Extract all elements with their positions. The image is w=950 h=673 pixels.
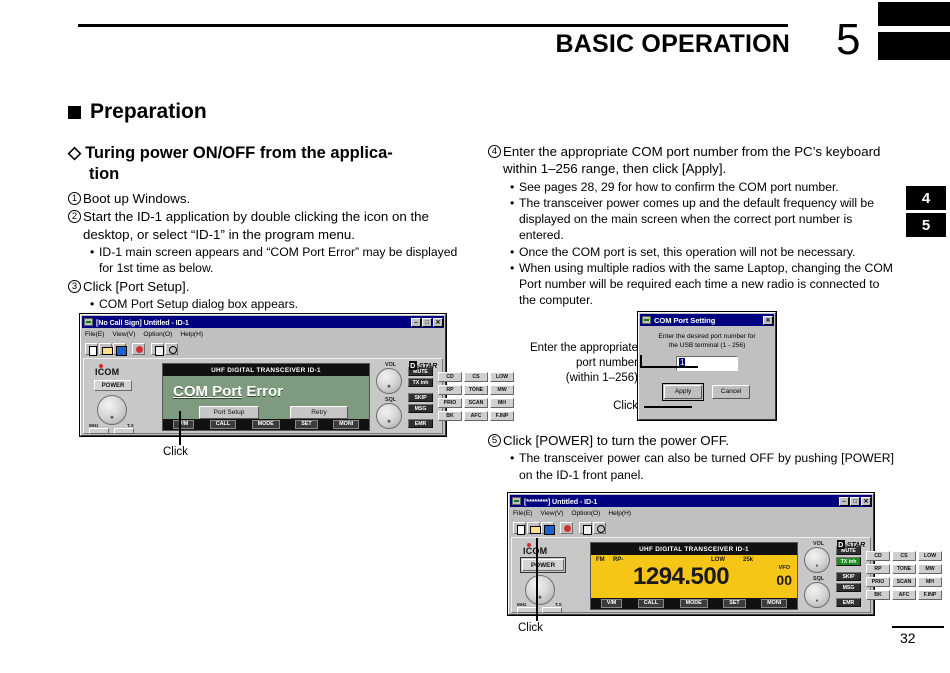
header-block-lower [878,32,950,60]
lcd-vfo-label: VFO [779,565,791,571]
apply-button[interactable]: Apply [664,385,702,399]
open-folder-icon[interactable] [527,522,540,534]
key-set[interactable]: SET [295,420,317,429]
key-afc[interactable]: AFC [464,411,488,421]
key-cs[interactable]: CS [464,372,488,382]
key-mh[interactable]: MH [490,398,514,408]
section-heading: Preparation [68,100,207,124]
key-tone[interactable]: TONE [464,385,488,395]
close-icon[interactable]: ✕ [763,316,773,325]
key-call[interactable]: CALL [638,599,664,608]
annotation-port-line3: (within 1–256) [566,372,638,384]
subsection-heading-line1: Turing power ON/OFF from the applica- [85,144,393,162]
dialog-message-line1: Enter the desired port number for [646,333,768,342]
dark-key-column[interactable]: MUTE TX inh SKIP MSG EMR [408,367,433,428]
square-bullet-icon [68,106,81,119]
lcd-rp: RP- [613,557,623,563]
key-tone[interactable]: TONE [892,564,916,574]
toolbar[interactable] [81,341,445,356]
lcd-mode: FM [596,557,605,563]
key-call[interactable]: CALL [210,420,236,429]
key-emr[interactable]: EMR [408,419,433,428]
header-rule [78,24,788,27]
sql-knob[interactable]: ● [804,582,830,608]
callout-line-port-setup [179,411,181,445]
key-mode[interactable]: MODE [680,599,708,608]
ts-small-bar[interactable] [114,428,134,434]
bullet-dot-icon: • [510,450,519,482]
step-1-number: 1 [68,190,83,207]
annotation-port-number: Enter the appropriate port number (withi… [500,341,638,386]
key-rp[interactable]: RP [438,385,462,395]
key-skip[interactable]: SKIP [836,572,861,581]
zoom-icon[interactable] [165,343,178,355]
callout-line-power [536,538,538,621]
vol-knob[interactable]: ✹ [376,368,402,394]
menu-view[interactable]: View(V) [540,510,563,517]
key-prio[interactable]: PRIO [438,398,462,408]
diamond-bullet-icon: ◇ [68,143,81,162]
lcd-step: 25k [743,557,753,563]
key-bk[interactable]: BK [438,411,462,421]
step-5-text: Click [POWER] to turn the power OFF. [503,432,894,449]
app-icon [512,497,521,505]
mhz-knob[interactable]: ✹ [525,575,555,605]
bullet-dot-icon: • [90,244,99,276]
dialog-icon [642,316,651,324]
toolbar-separator [555,522,559,534]
sql-knob[interactable]: ✹ [376,403,402,429]
annotation-port-line1: Enter the appropriate [530,342,638,354]
dstar-logo: D-STAR [409,361,437,370]
right-column: 4 Enter the appropriate COM port number … [488,143,894,309]
key-tx-inh[interactable]: TX inh [836,557,861,566]
step-4-number: 4 [488,143,503,178]
step-3-text: Click [Port Setup]. [83,278,472,295]
titlebar[interactable]: [No Call Sign] Untitled - ID-1 – □ ✕ [82,316,444,328]
open-folder-icon[interactable] [99,343,112,355]
menu-file[interactable]: File(E) [513,510,532,517]
lcd-bottom-keys[interactable]: V/M CALL MODE SET MONI [163,419,369,430]
menu-help[interactable]: Help(H) [608,510,631,517]
menubar[interactable]: File(E) View(V) Option(O) Help(H) [81,329,445,340]
save-disk-icon[interactable] [541,522,554,534]
port-number-input[interactable]: 1 [676,356,738,371]
power-button[interactable]: POWER [522,559,564,571]
frequency-display: 1294.500 [633,565,729,589]
retry-button[interactable]: Retry [290,406,348,419]
bullet-dot-icon: • [90,296,99,312]
step-4: 4 Enter the appropriate COM port number … [488,143,894,178]
lcd-body: COM Port Error Port Setup Retry [163,376,369,419]
side-tab-5[interactable]: 5 [906,213,946,237]
mhz-small-bar[interactable] [517,607,537,613]
page-title: BASIC OPERATION [380,30,790,59]
close-button[interactable]: ✕ [433,318,443,327]
dialog-titlebar[interactable]: COM Port Setting ✕ [640,314,774,326]
step-4-bullet-1: • See pages 28, 29 for how to confirm th… [510,179,894,195]
list-icon[interactable] [579,522,592,534]
callout-line-apply [644,406,692,408]
key-msg[interactable]: MSG [408,404,433,413]
id1-app-window-power[interactable]: [********] Untitled - ID-1 – □ ✕ File(E)… [508,493,874,615]
key-skip[interactable]: SKIP [408,393,433,402]
lcd-bottom-keys[interactable]: V/M CALL MODE SET MONI [591,598,797,609]
lcd-header: UHF DIGITAL TRANSCEIVER ID-1 [163,364,369,376]
toolbar[interactable] [509,520,873,535]
key-rp[interactable]: RP [866,564,890,574]
key-msg[interactable]: MSG [836,583,861,592]
key-scan[interactable]: SCAN [892,577,916,587]
key-cd[interactable]: CD [438,372,462,382]
dialog-button-row: Apply Cancel [646,385,768,399]
radio-front-panel: ICOM POWER ✹ MHz T.S UHF DIGITAL TRANSCE… [83,358,443,434]
icom-brand: ICOM [95,367,119,377]
id1-app-window-error[interactable]: [No Call Sign] Untitled - ID-1 – □ ✕ Fil… [80,314,446,436]
step-2: 2 Start the ID-1 application by double c… [68,208,472,243]
list-icon[interactable] [151,343,164,355]
step-3: 3 Click [Port Setup]. [68,278,472,295]
minimize-button[interactable]: – [839,497,849,506]
toolbar-separator [146,343,150,355]
callout-click-port-setup: Click [163,446,188,458]
step-1: 1 Boot up Windows. [68,190,472,207]
dstar-logo: D-STAR [837,540,865,549]
callout-line-port-input [640,366,698,368]
chapter-number: 5 [836,18,860,62]
callout-line-port-input-v [640,355,642,368]
menu-option[interactable]: Option(O) [571,510,600,517]
lcd-header: UHF DIGITAL TRANSCEIVER ID-1 [591,543,797,555]
step-3-number: 3 [68,278,83,295]
key-moni[interactable]: MONI [333,420,359,429]
step-1-text: Boot up Windows. [83,190,472,207]
section-heading-label: Preparation [90,100,207,124]
titlebar-buttons: – □ ✕ [839,497,871,506]
key-prio[interactable]: PRIO [866,577,890,587]
dark-key-column[interactable]: MUTE TX inh SKIP MSG EMR [836,546,861,607]
step-2-text: Start the ID-1 application by double cli… [83,208,472,243]
menu-view[interactable]: View(V) [112,331,135,338]
page-header: BASIC OPERATION 5 [0,0,950,78]
key-f-inp[interactable]: F.INP [918,590,942,600]
com-port-error-text: COM Port Error [173,383,283,400]
key-bk[interactable]: BK [866,590,890,600]
key-mh[interactable]: MH [918,577,942,587]
annotation-port-line2: port number [576,357,638,369]
cancel-button[interactable]: Cancel [712,385,750,399]
minimize-button[interactable]: – [411,318,421,327]
keypad[interactable]: CD CS LOW RP TONE MW PRIO SCAN MH BK AFC… [866,551,942,600]
side-tab-4[interactable]: 4 [906,186,946,210]
key-moni[interactable]: MONI [761,599,787,608]
ts-small-bar[interactable] [542,607,562,613]
callout-click-power: Click [518,622,543,634]
key-mw[interactable]: MW [918,564,942,574]
step-5-bullet-1: • The transceiver power can also be turn… [510,450,894,482]
titlebar[interactable]: [********] Untitled - ID-1 – □ ✕ [510,495,872,507]
key-afc[interactable]: AFC [892,590,916,600]
step-5-number: 5 [488,432,503,449]
radio-front-panel: ICOM POWER ✹ MHz T.S UHF DIGITAL TRANSCE… [511,537,871,613]
lcd-vfo-number: 00 [776,573,792,587]
new-doc-icon[interactable] [85,343,98,355]
key-set[interactable]: SET [723,599,745,608]
lcd-body: FM RP- LOW 25k VFO 00 1294.500 [591,555,797,598]
window-title: [No Call Sign] Untitled - ID-1 [96,318,411,327]
key-vm[interactable]: V/M [173,420,195,429]
vol-knob[interactable]: ● [804,547,830,573]
bullet-dot-icon: • [510,179,519,195]
bullet-dot-icon: • [510,244,519,260]
zoom-icon[interactable] [593,522,606,534]
step-5-block: 5 Click [POWER] to turn the power OFF. •… [488,432,894,483]
key-scan[interactable]: SCAN [464,398,488,408]
save-disk-icon[interactable] [113,343,126,355]
menu-help[interactable]: Help(H) [180,331,203,338]
mhz-small-bar[interactable] [89,428,109,434]
toolbar-separator [127,343,131,355]
window-title: [********] Untitled - ID-1 [524,497,839,506]
key-low[interactable]: LOW [918,551,942,561]
menubar[interactable]: File(E) View(V) Option(O) Help(H) [509,508,873,519]
key-mw[interactable]: MW [490,385,514,395]
power-button[interactable]: POWER [94,380,132,391]
maximize-button[interactable]: □ [850,497,860,506]
step-2-number: 2 [68,208,83,243]
step-5: 5 Click [POWER] to turn the power OFF. [488,432,894,449]
key-vm[interactable]: V/M [601,599,623,608]
subsection-heading-line2: tion [89,164,468,185]
close-button[interactable]: ✕ [861,497,871,506]
bullet-dot-icon: • [510,260,519,309]
header-block-upper [878,2,950,26]
menu-file[interactable]: File(E) [85,331,104,338]
dialog-message-line2: the USB terminal (1 - 256) [646,342,768,351]
bullet-dot-icon: • [510,195,519,244]
step-4-bullet-2: • The transceiver power comes up and the… [510,195,894,244]
toolbar-separator [574,522,578,534]
new-doc-icon[interactable] [513,522,526,534]
left-column: 1 Boot up Windows. 2 Start the ID-1 appl… [68,190,472,312]
mhz-knob[interactable]: ✹ [97,395,127,425]
lcd-display-power: UHF DIGITAL TRANSCEIVER ID-1 FM RP- LOW … [590,542,798,610]
key-emr[interactable]: EMR [836,598,861,607]
key-tx-inh[interactable]: TX inh [408,378,433,387]
key-cd[interactable]: CD [866,551,890,561]
annotation-click-apply: Click [560,399,638,414]
maximize-button[interactable]: □ [422,318,432,327]
key-cs[interactable]: CS [892,551,916,561]
key-f-inp[interactable]: F.INP [490,411,514,421]
page-number-rule [892,626,944,628]
app-icon [84,318,93,326]
step-4-bullet-4: • When using multiple radios with the sa… [510,260,894,309]
step-2-bullet-1: • ID-1 main screen appears and “COM Port… [90,244,472,276]
refresh-icon[interactable] [132,343,145,355]
lcd-display-error: UHF DIGITAL TRANSCEIVER ID-1 COM Port Er… [162,363,370,431]
menu-option[interactable]: Option(O) [143,331,172,338]
dialog-title: COM Port Setting [654,316,763,325]
subsection-heading: ◇Turing power ON/OFF from the applica- t… [68,142,468,185]
step-4-text: Enter the appropriate COM port number fr… [503,143,894,178]
step-3-bullet-1: • COM Port Setup dialog box appears. [90,296,472,312]
refresh-icon[interactable] [560,522,573,534]
dialog-titlebar-buttons: ✕ [763,316,773,325]
titlebar-buttons: – □ ✕ [411,318,443,327]
page-number: 32 [900,630,916,646]
port-setup-button[interactable]: Port Setup [199,406,259,419]
key-mode[interactable]: MODE [252,420,280,429]
step-4-bullet-3: • Once the COM port is set, this operati… [510,244,894,260]
